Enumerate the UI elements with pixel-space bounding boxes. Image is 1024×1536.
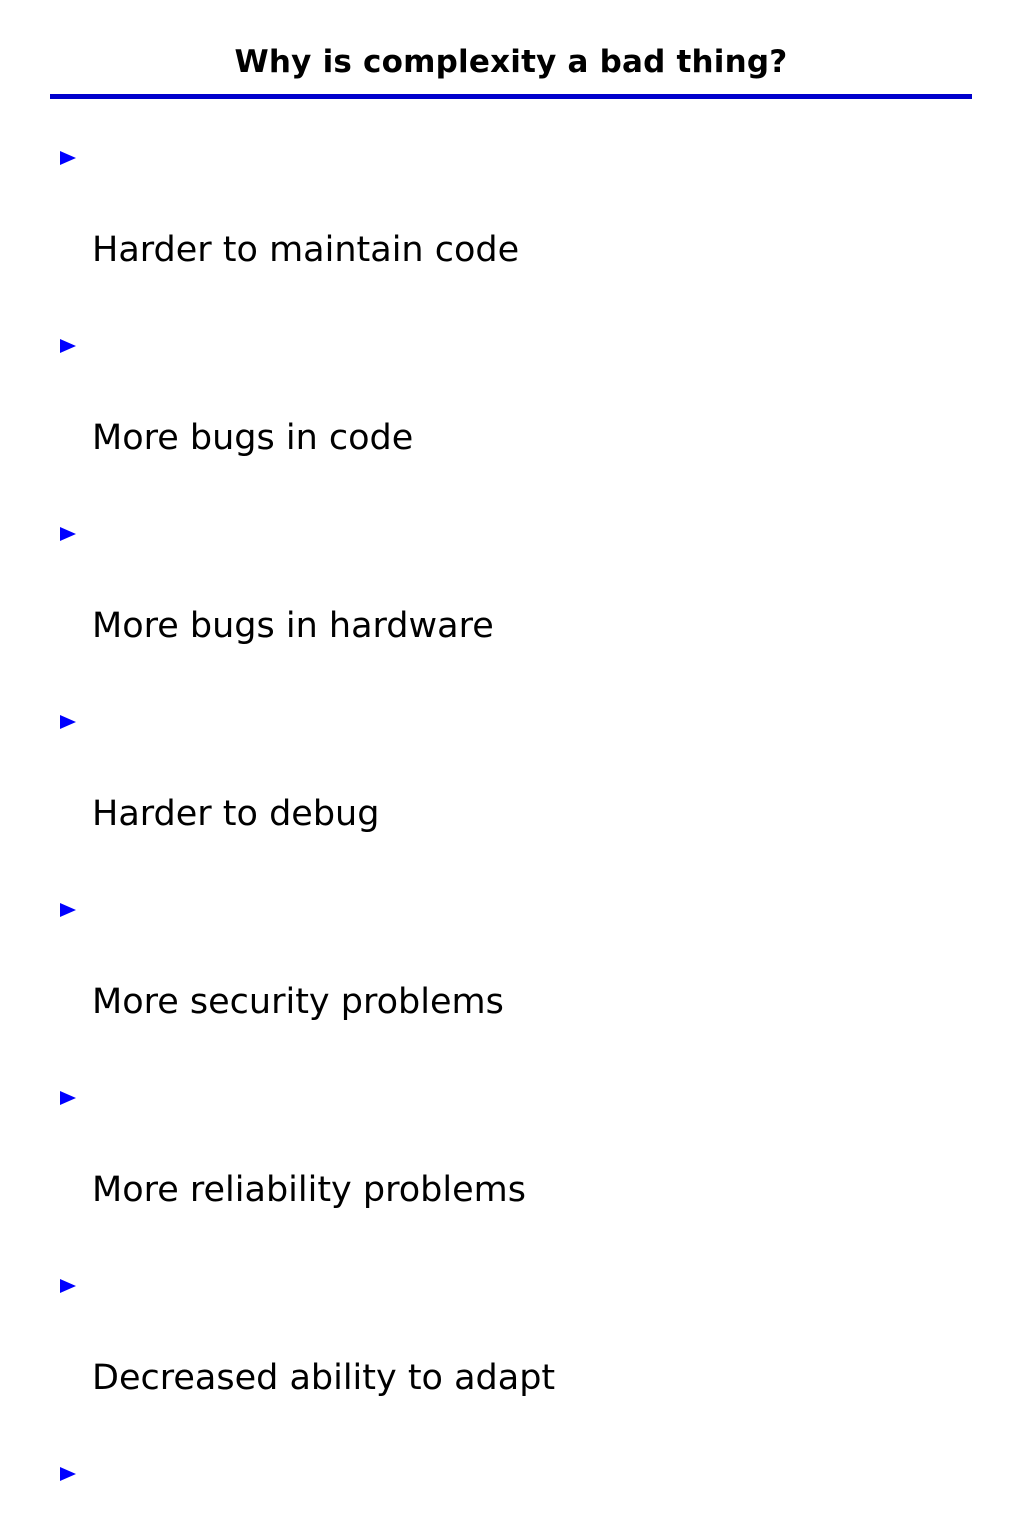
- bullet-list: Harder to maintain code More bugs in cod…: [56, 133, 986, 1536]
- list-item-label: More bugs in hardware: [92, 603, 986, 650]
- triangle-right-bullet-icon: [58, 1073, 80, 1120]
- list-item: Harder to maintain code: [56, 133, 986, 321]
- triangle-right-bullet-icon: [58, 321, 80, 368]
- title-underline-rule: [50, 94, 972, 99]
- list-item-label: More security problems: [92, 979, 986, 1026]
- list-item: It is assumed you have a car/windows/pho…: [56, 1449, 986, 1536]
- list-item-label: Harder to maintain code: [92, 227, 986, 274]
- list-item: Harder to debug: [56, 697, 986, 885]
- slide-title-block: Why is complexity a bad thing?: [50, 42, 972, 82]
- triangle-right-bullet-icon: [58, 1449, 80, 1496]
- list-item: More bugs in code: [56, 321, 986, 509]
- list-item: More security problems: [56, 885, 986, 1073]
- triangle-right-bullet-icon: [58, 1261, 80, 1308]
- page-title: Why is complexity a bad thing?: [50, 42, 972, 82]
- presentation-slide: Why is complexity a bad thing? Harder to…: [0, 0, 1024, 768]
- list-item: More bugs in hardware: [56, 509, 986, 697]
- list-item: Decreased ability to adapt: [56, 1261, 986, 1449]
- triangle-right-bullet-icon: [58, 885, 80, 932]
- list-item-label: More bugs in code: [92, 415, 986, 462]
- list-item-label: Decreased ability to adapt: [92, 1355, 986, 1402]
- list-item: More reliability problems: [56, 1073, 986, 1261]
- list-item-label: More reliability problems: [92, 1167, 986, 1214]
- triangle-right-bullet-icon: [58, 697, 80, 744]
- list-item-label: Harder to debug: [92, 791, 986, 838]
- triangle-right-bullet-icon: [58, 509, 80, 556]
- triangle-right-bullet-icon: [58, 133, 80, 180]
